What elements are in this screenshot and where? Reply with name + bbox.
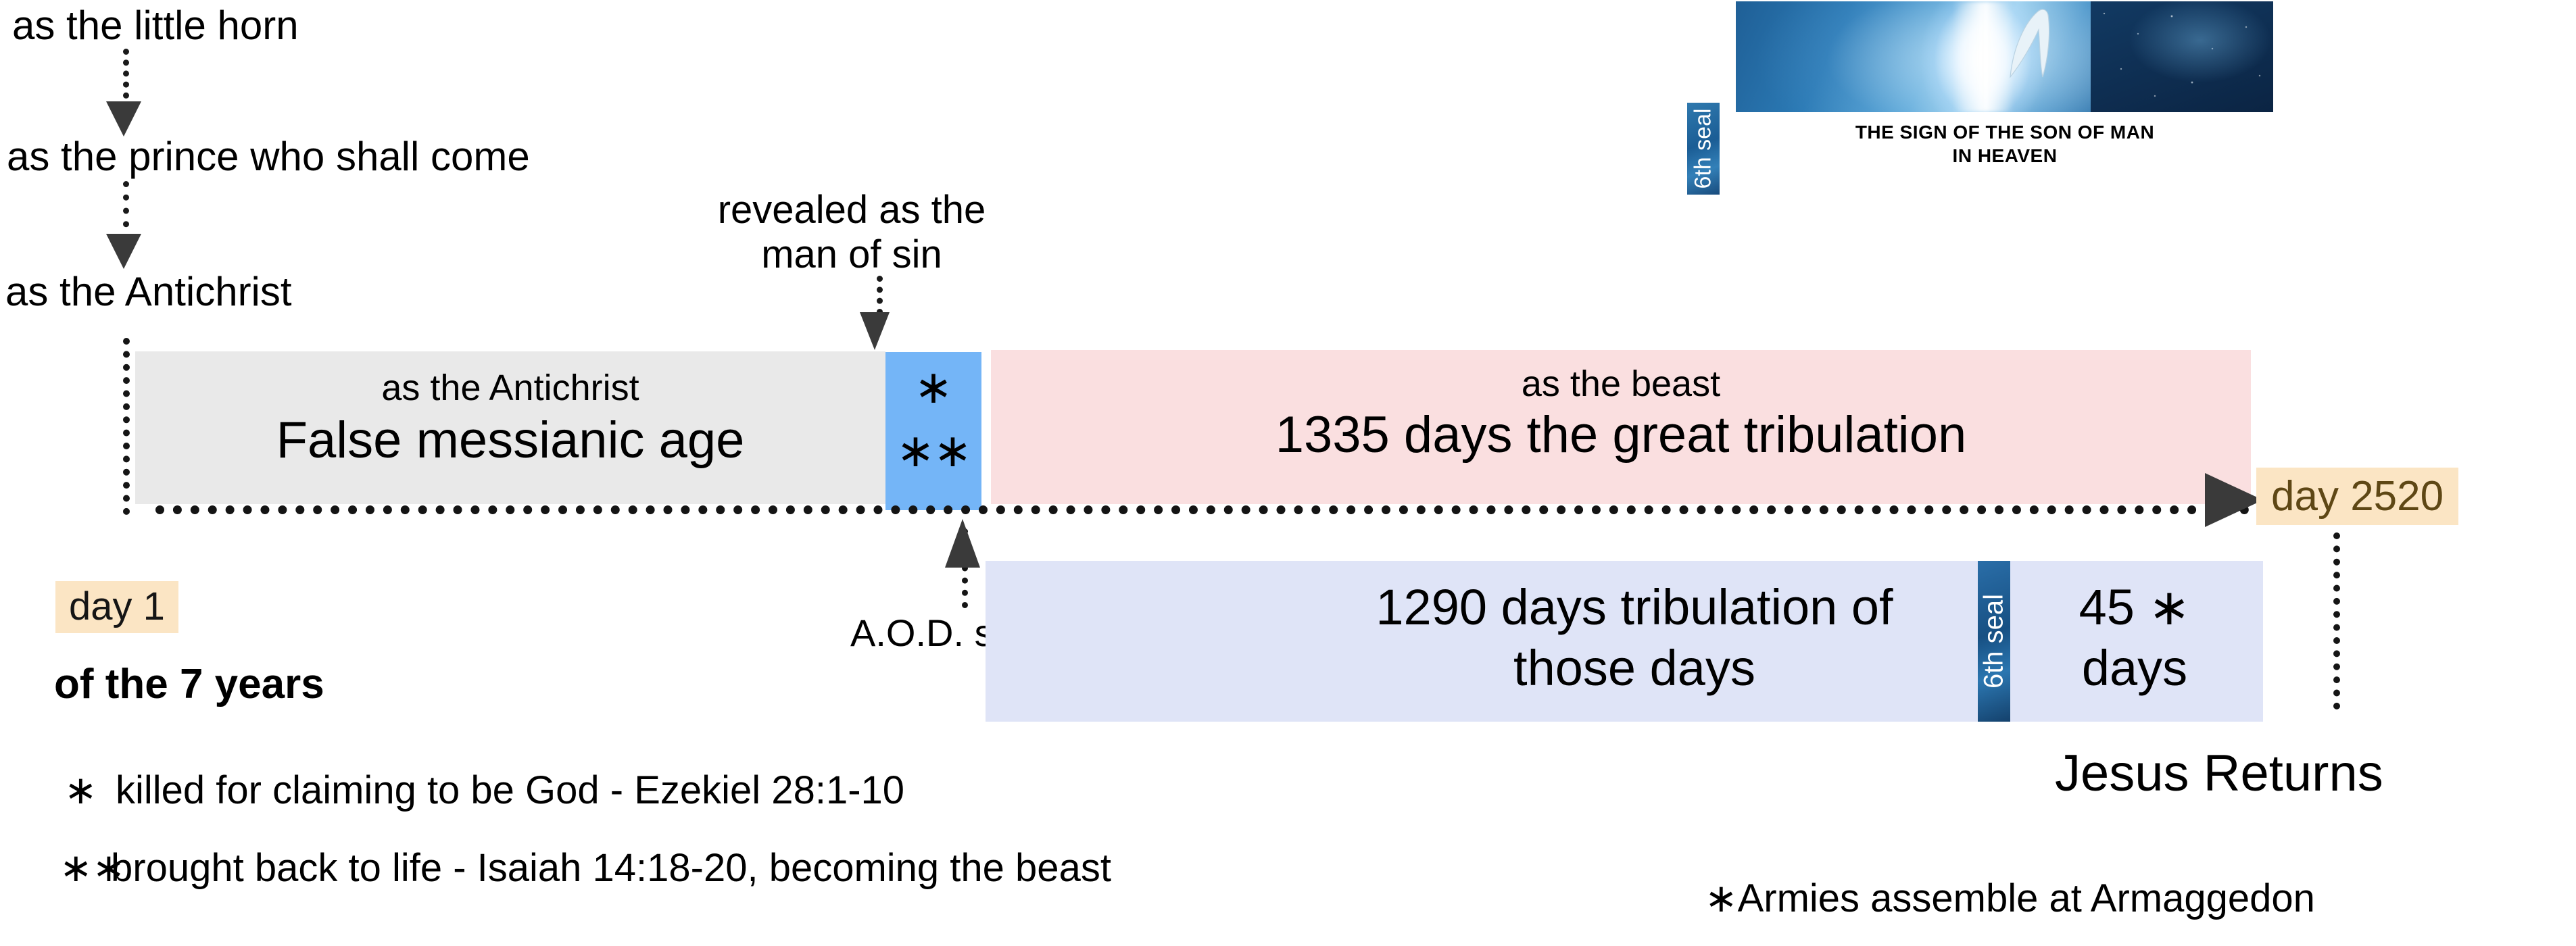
sixth-seal-tab-top: 6th seal — [1687, 103, 1720, 195]
dotted-connector-2 — [123, 181, 129, 241]
badge-day-2520: day 2520 — [2256, 468, 2458, 525]
timeline-end-marker — [2333, 532, 2340, 709]
bar-1290-days-tribulation: 1290 days tribulation of those days 6th … — [986, 561, 2263, 722]
bar-blue-star-single: ∗ — [885, 364, 981, 410]
bar-lower-label-line2: those days — [1155, 638, 2114, 699]
label-little-horn: as the little horn — [12, 4, 299, 47]
badge-day-1: day 1 — [55, 581, 178, 633]
bar-gray-label: False messianic age — [135, 414, 885, 468]
footnote-two-star-text: brought back to life - Isaiah 14:18-20, … — [111, 846, 1111, 890]
timeline-dotted-line — [155, 505, 2250, 514]
timeline-start-marker — [123, 338, 130, 515]
starfield — [2091, 1, 2273, 112]
arrow-down-icon-revealed — [860, 312, 890, 350]
bar-lower-tail-45-days: 45 ∗ days — [2020, 577, 2250, 699]
arrow-right-icon-timeline — [2205, 473, 2263, 527]
asterisk-icon-single: ∗ — [64, 770, 116, 812]
sixth-seal-strip-lower: 6th seal — [1978, 561, 2010, 722]
arrow-up-icon-aod — [945, 519, 980, 568]
callout-revealed-as-man-of-sin: revealed as the man of sin — [676, 188, 1027, 276]
callout-revealed-line2: man of sin — [676, 232, 1027, 277]
arrow-down-icon-1 — [106, 101, 141, 136]
arrow-down-icon-2 — [106, 234, 141, 269]
asterisk-icon-double: ∗∗ — [59, 848, 111, 889]
footnote-armies-armaggedon: ∗Armies assemble at Armaggedon — [1705, 878, 2315, 920]
bar-great-tribulation: as the beast 1335 days the great tribula… — [991, 350, 2251, 504]
bar-lower-label: 1290 days tribulation of those days — [1155, 577, 2114, 699]
label-jesus-returns: Jesus Returns — [2055, 747, 2383, 801]
dotted-connector-revealed — [877, 276, 883, 315]
bar-gray-sublabel: as the Antichrist — [135, 369, 885, 407]
image-caption: THE SIGN OF THE SON OF MAN IN HEAVEN — [1761, 120, 2248, 168]
sixth-seal-strip-label: 6th seal — [1979, 594, 2010, 689]
bar-pink-label: 1335 days the great tribulation — [991, 408, 2251, 462]
callout-revealed-line1: revealed as the — [676, 188, 1027, 232]
image-caption-line2: IN HEAVEN — [1761, 144, 2248, 168]
image-caption-line1: THE SIGN OF THE SON OF MAN — [1761, 120, 2248, 144]
bar-blue-star-double: ∗∗ — [885, 428, 981, 474]
bar-pink-sublabel: as the beast — [991, 365, 2251, 403]
bar-false-messianic-age: as the Antichrist False messianic age — [135, 351, 885, 504]
label-prince-who-shall-come: as the prince who shall come — [7, 135, 530, 178]
footnote-one-star: ∗killed for claiming to be God - Ezekiel… — [64, 770, 904, 812]
bar-lower-tail-line1: 45 ∗ — [2020, 577, 2250, 638]
label-antichrist: as the Antichrist — [5, 270, 292, 313]
bar-death-and-resurrection-segment: ∗ ∗∗ — [885, 352, 981, 510]
sign-of-son-of-man-image — [1736, 1, 2273, 112]
sign-glyph-icon — [2001, 7, 2082, 81]
bar-lower-label-line1: 1290 days tribulation of — [1155, 577, 2114, 638]
dotted-connector-1 — [123, 49, 129, 109]
sixth-seal-tab-label: 6th seal — [1691, 108, 1717, 189]
label-of-the-7-years: of the 7 years — [54, 662, 324, 706]
footnote-one-star-text: killed for claiming to be God - Ezekiel … — [116, 768, 904, 812]
footnote-two-star: ∗∗brought back to life - Isaiah 14:18-20… — [59, 848, 1111, 889]
bar-lower-tail-line2: days — [2020, 638, 2250, 699]
